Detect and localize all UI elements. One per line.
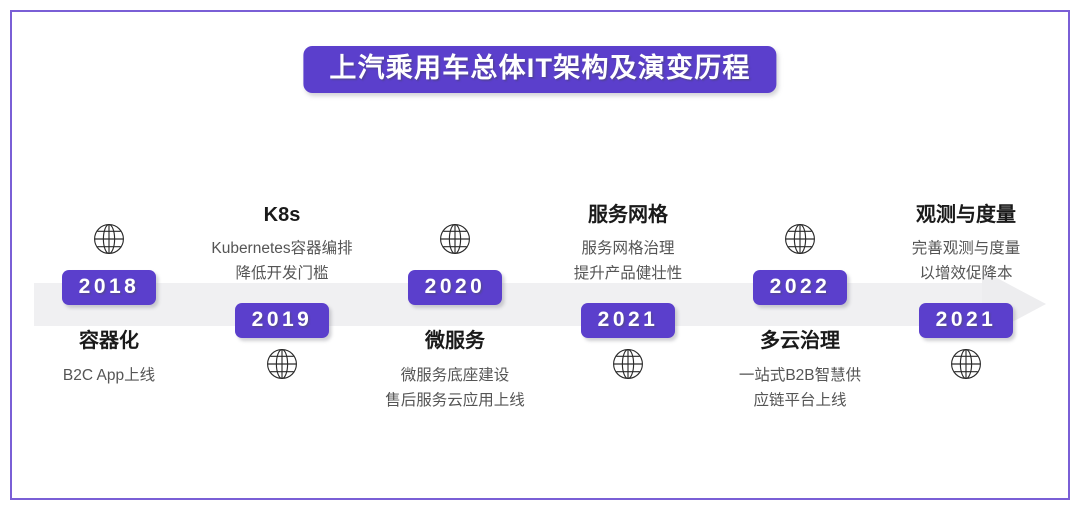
year-label: 2018 <box>79 275 140 298</box>
year-label: 2021 <box>598 308 659 331</box>
globe-icon <box>89 219 129 259</box>
milestone-description-line: 售后服务云应用上线 <box>335 388 575 413</box>
milestone-description: 完善观测与度量以增效促降本 <box>846 236 1080 286</box>
globe-icon <box>946 344 986 384</box>
milestone-description-line: 以增效促降本 <box>846 261 1080 286</box>
year-badge[interactable]: 2018 <box>62 270 157 305</box>
year-label: 2020 <box>425 275 486 298</box>
page-title: 上汽乘用车总体IT架构及演变历程 <box>329 55 750 82</box>
milestone-icon-slot <box>846 344 1080 388</box>
globe-icon <box>780 219 820 259</box>
year-badge[interactable]: 2019 <box>235 303 330 338</box>
year-badge[interactable]: 2021 <box>919 303 1014 338</box>
milestone-heading: 观测与度量 <box>846 203 1080 228</box>
globe-icon <box>435 219 475 259</box>
milestone-description-line: 完善观测与度量 <box>846 236 1080 261</box>
year-label: 2022 <box>770 275 831 298</box>
year-badge[interactable]: 2020 <box>408 270 503 305</box>
globe-icon <box>608 344 648 384</box>
year-badge[interactable]: 2022 <box>753 270 848 305</box>
year-label: 2021 <box>936 308 997 331</box>
timeline-milestone[interactable]: 2021观测与度量完善观测与度量以增效促降本 <box>846 303 1080 388</box>
milestone-text-block: 观测与度量完善观测与度量以增效促降本 <box>846 201 1080 286</box>
slide-title-badge: 上汽乘用车总体IT架构及演变历程 <box>303 46 776 93</box>
year-label: 2019 <box>252 308 313 331</box>
globe-icon <box>262 344 302 384</box>
year-badge[interactable]: 2021 <box>581 303 676 338</box>
milestone-description-line: 应链平台上线 <box>680 388 920 413</box>
slide-canvas: 上汽乘用车总体IT架构及演变历程 2018容器化B2C App上线2019K8s… <box>0 0 1080 510</box>
milestone-year-slot: 2021 <box>846 303 1080 338</box>
